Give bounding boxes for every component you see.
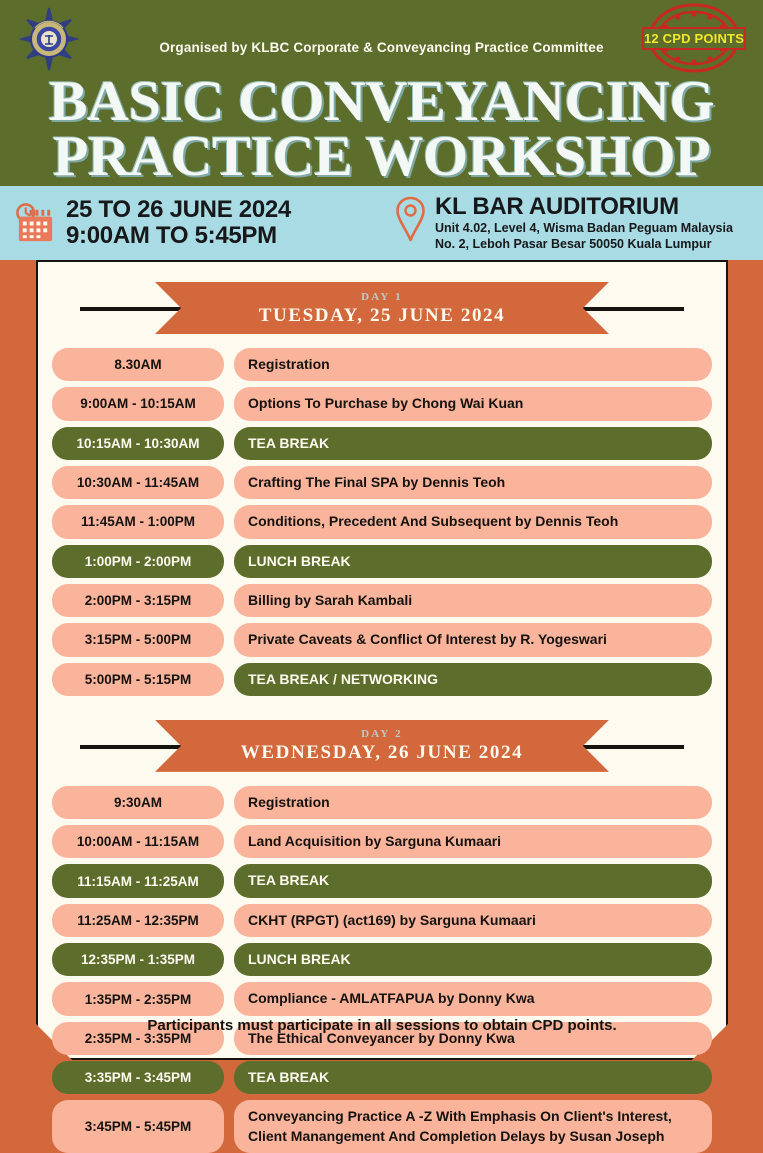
schedule-topic: Private Caveats & Conflict Of Interest b… [234,623,712,656]
schedule-topic: TEA BREAK / NETWORKING [234,663,712,696]
schedule-topic: Options To Purchase by Chong Wai Kuan [234,387,712,420]
schedule-time: 10:00AM - 11:15AM [52,825,224,858]
venue-text: KL BAR AUDITORIUM Unit 4.02, Level 4, Wi… [435,194,733,252]
schedule-list: 9:30AMRegistration10:00AM - 11:15AMLand … [52,786,712,1153]
schedule-row: 5:00PM - 5:15PMTEA BREAK / NETWORKING [52,663,712,696]
schedule-row: 2:00PM - 3:15PMBilling by Sarah Kambali [52,584,712,617]
schedule-card-content: DAY 1TUESDAY, 25 JUNE 20248.30AMRegistra… [36,260,728,1060]
schedule-row: 11:45AM - 1:00PMConditions, Precedent An… [52,505,712,538]
schedule-topic: Registration [234,348,712,381]
cpd-points-label: 12 CPD POINTS [644,31,744,46]
schedule-row: 3:15PM - 5:00PMPrivate Caveats & Conflic… [52,623,712,656]
day-label: DAY 1 [361,292,403,303]
schedule-time: 3:45PM - 5:45PM [52,1100,224,1153]
schedule-time: 10:30AM - 11:45AM [52,466,224,499]
page-title-line1: BASIC CONVEYANCING [0,74,763,129]
schedule-topic: TEA BREAK [234,427,712,460]
day-date: TUESDAY, 25 JUNE 2024 [259,306,506,325]
cpd-points-banner: 12 CPD POINTS [642,27,746,50]
poster-header: Organised by KLBC Corporate & Conveyanci… [0,0,763,186]
schedule-row: 3:45PM - 5:45PMConveyancing Practice A -… [52,1100,712,1153]
calendar-icon [14,202,57,245]
schedule-topic: TEA BREAK [234,864,712,897]
schedule-topic: Compliance - AMLATFAPUA by Donny Kwa [234,982,712,1015]
schedule-time: 10:15AM - 10:30AM [52,427,224,460]
schedule-topic: LUNCH BREAK [234,943,712,976]
schedule-row: 8.30AMRegistration [52,348,712,381]
schedule-time: 11:45AM - 1:00PM [52,505,224,538]
schedule-topic: LUNCH BREAK [234,545,712,578]
schedule-row: 10:00AM - 11:15AMLand Acquisition by Sar… [52,825,712,858]
day-banner: DAY 1TUESDAY, 25 JUNE 2024 [52,282,712,334]
schedule-topic: Conveyancing Practice A -Z With Emphasis… [234,1100,712,1153]
day-spacer [52,696,712,714]
schedule-row: 1:35PM - 2:35PMCompliance - AMLATFAPUA b… [52,982,712,1015]
schedule-row: 3:35PM - 3:45PMTEA BREAK [52,1061,712,1094]
schedule-row: 9:30AMRegistration [52,786,712,819]
schedule-topic: Conditions, Precedent And Subsequent by … [234,505,712,538]
schedule-topic: Billing by Sarah Kambali [234,584,712,617]
schedule-time: 9:30AM [52,786,224,819]
day-date: WEDNESDAY, 26 JUNE 2024 [241,743,523,762]
poster-root: Organised by KLBC Corporate & Conveyanci… [0,0,763,1080]
footer-note: Participants must participate in all ses… [36,1017,728,1034]
schedule-topic: Crafting The Final SPA by Dennis Teoh [234,466,712,499]
schedule-row: 10:15AM - 10:30AMTEA BREAK [52,427,712,460]
schedule-time: 11:25AM - 12:35PM [52,904,224,937]
venue-name: KL BAR AUDITORIUM [435,194,733,219]
day-section: DAY 1TUESDAY, 25 JUNE 20248.30AMRegistra… [52,282,712,696]
schedule-card-wrap: DAY 1TUESDAY, 25 JUNE 20248.30AMRegistra… [36,260,728,1060]
schedule-time: 2:00PM - 3:15PM [52,584,224,617]
schedule-row: 1:00PM - 2:00PMLUNCH BREAK [52,545,712,578]
event-info-bar: 25 TO 26 JUNE 2024 9:00AM TO 5:45PM KL B… [0,186,763,260]
event-date-time: 25 TO 26 JUNE 2024 9:00AM TO 5:45PM [66,197,291,250]
day-ribbon: DAY 1TUESDAY, 25 JUNE 2024 [155,282,609,334]
schedule-list: 8.30AMRegistration9:00AM - 10:15AMOption… [52,348,712,696]
page-title-line2: PRACTICE WORKSHOP [0,129,763,184]
schedule-time: 12:35PM - 1:35PM [52,943,224,976]
day-label: DAY 2 [361,729,403,740]
schedule-time: 1:35PM - 2:35PM [52,982,224,1015]
day-section: DAY 2WEDNESDAY, 26 JUNE 20249:30AMRegist… [52,720,712,1153]
schedule-row: 11:25AM - 12:35PMCKHT (RPGT) (act169) by… [52,904,712,937]
schedule-topic: TEA BREAK [234,1061,712,1094]
schedule-time: 9:00AM - 10:15AM [52,387,224,420]
cpd-points-badge: 12 CPD POINTS [639,3,749,73]
day-ribbon: DAY 2WEDNESDAY, 26 JUNE 2024 [155,720,609,772]
event-date-range: 25 TO 26 JUNE 2024 [66,197,291,223]
schedule-topic: Land Acquisition by Sarguna Kumaari [234,825,712,858]
schedule-time: 3:15PM - 5:00PM [52,623,224,656]
event-time-range: 9:00AM TO 5:45PM [66,223,291,249]
date-time-block: 25 TO 26 JUNE 2024 9:00AM TO 5:45PM [14,197,394,250]
schedule-row: 10:30AM - 11:45AMCrafting The Final SPA … [52,466,712,499]
day-banner: DAY 2WEDNESDAY, 26 JUNE 2024 [52,720,712,772]
page-title: BASIC CONVEYANCING PRACTICE WORKSHOP [0,74,763,185]
location-pin-icon [394,195,427,243]
schedule-topic: CKHT (RPGT) (act169) by Sarguna Kumaari [234,904,712,937]
venue-address-line-2: No. 2, Leboh Pasar Besar 50050 Kuala Lum… [435,237,733,253]
venue-block: KL BAR AUDITORIUM Unit 4.02, Level 4, Wi… [394,194,749,252]
schedule-time: 5:00PM - 5:15PM [52,663,224,696]
venue-address-line-1: Unit 4.02, Level 4, Wisma Badan Peguam M… [435,221,733,237]
schedule-time: 3:35PM - 3:45PM [52,1061,224,1094]
schedule-row: 9:00AM - 10:15AMOptions To Purchase by C… [52,387,712,420]
schedule-row: 11:15AM - 11:25AMTEA BREAK [52,864,712,897]
schedule-row: 12:35PM - 1:35PMLUNCH BREAK [52,943,712,976]
schedule-time: 11:15AM - 11:25AM [52,864,224,897]
schedule-time: 8.30AM [52,348,224,381]
schedule-time: 1:00PM - 2:00PM [52,545,224,578]
schedule-topic: Registration [234,786,712,819]
klbc-emblem-logo [18,6,80,72]
